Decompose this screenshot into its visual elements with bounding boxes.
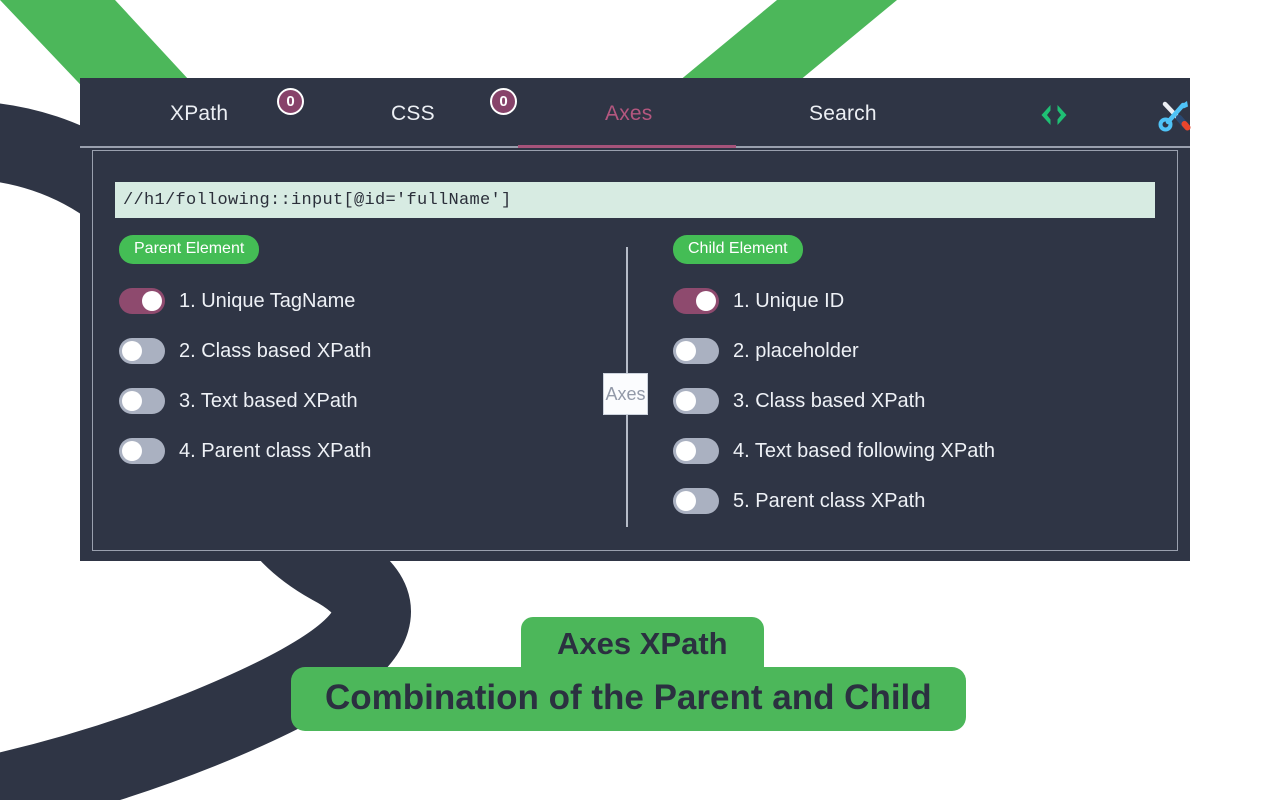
child-toggle-5[interactable]	[673, 488, 719, 514]
child-element-chip: Child Element	[673, 235, 803, 264]
child-toggle-2[interactable]	[673, 338, 719, 364]
child-element-column: Child Element 1. Unique ID 2. placeholde…	[673, 235, 1193, 526]
child-option-row[interactable]: 5. Parent class XPath	[673, 476, 1193, 526]
parent-option-label-2: 2. Class based XPath	[179, 340, 371, 363]
parent-option-label-4: 4. Parent class XPath	[179, 440, 371, 463]
child-option-row[interactable]: 3. Class based XPath	[673, 376, 1193, 426]
tab-axes[interactable]: Axes	[605, 102, 653, 126]
caption-banner-bottom: Combination of the Parent and Child	[291, 667, 966, 731]
parent-toggle-3[interactable]	[119, 388, 165, 414]
tab-search[interactable]: Search	[809, 102, 877, 126]
parent-toggle-2[interactable]	[119, 338, 165, 364]
child-toggle-4[interactable]	[673, 438, 719, 464]
child-option-row[interactable]: 1. Unique ID	[673, 276, 1193, 326]
parent-toggle-4[interactable]	[119, 438, 165, 464]
parent-option-row[interactable]: 1. Unique TagName	[119, 276, 639, 326]
xpath-input[interactable]	[115, 182, 1155, 218]
tab-bar: XPath 0 CSS 0 Axes Search	[80, 78, 1190, 148]
xpath-tool-panel: XPath 0 CSS 0 Axes Search	[80, 78, 1190, 561]
child-option-row[interactable]: 4. Text based following XPath	[673, 426, 1193, 476]
parent-option-row[interactable]: 3. Text based XPath	[119, 376, 639, 426]
parent-toggle-1[interactable]	[119, 288, 165, 314]
parent-option-label-3: 3. Text based XPath	[179, 390, 358, 413]
tab-xpath[interactable]: XPath	[170, 102, 228, 126]
tab-css-badge: 0	[490, 88, 517, 115]
tools-icon[interactable]	[1154, 96, 1196, 134]
caption-banner-bottom-text: Combination of the Parent and Child	[325, 678, 932, 718]
axes-divider-label: Axes	[603, 373, 648, 415]
parent-option-label-1: 1. Unique TagName	[179, 290, 355, 313]
caption-banner-top: Axes XPath	[521, 617, 764, 668]
parent-option-row[interactable]: 4. Parent class XPath	[119, 426, 639, 476]
child-option-label-4: 4. Text based following XPath	[733, 440, 995, 463]
child-option-label-3: 3. Class based XPath	[733, 390, 925, 413]
parent-element-chip: Parent Element	[119, 235, 259, 264]
child-toggle-3[interactable]	[673, 388, 719, 414]
tab-css[interactable]: CSS	[391, 102, 435, 126]
code-brackets-icon[interactable]	[1033, 96, 1075, 134]
child-option-row[interactable]: 2. placeholder	[673, 326, 1193, 376]
panel-content: Parent Element 1. Unique TagName 2. Clas…	[92, 150, 1178, 551]
parent-element-column: Parent Element 1. Unique TagName 2. Clas…	[119, 235, 639, 476]
tab-axes-underline	[518, 145, 736, 148]
child-option-label-2: 2. placeholder	[733, 340, 859, 363]
caption-banner-top-text: Axes XPath	[557, 626, 728, 662]
child-toggle-1[interactable]	[673, 288, 719, 314]
tab-xpath-badge: 0	[277, 88, 304, 115]
child-option-label-5: 5. Parent class XPath	[733, 490, 925, 513]
parent-option-row[interactable]: 2. Class based XPath	[119, 326, 639, 376]
child-option-label-1: 1. Unique ID	[733, 290, 844, 313]
